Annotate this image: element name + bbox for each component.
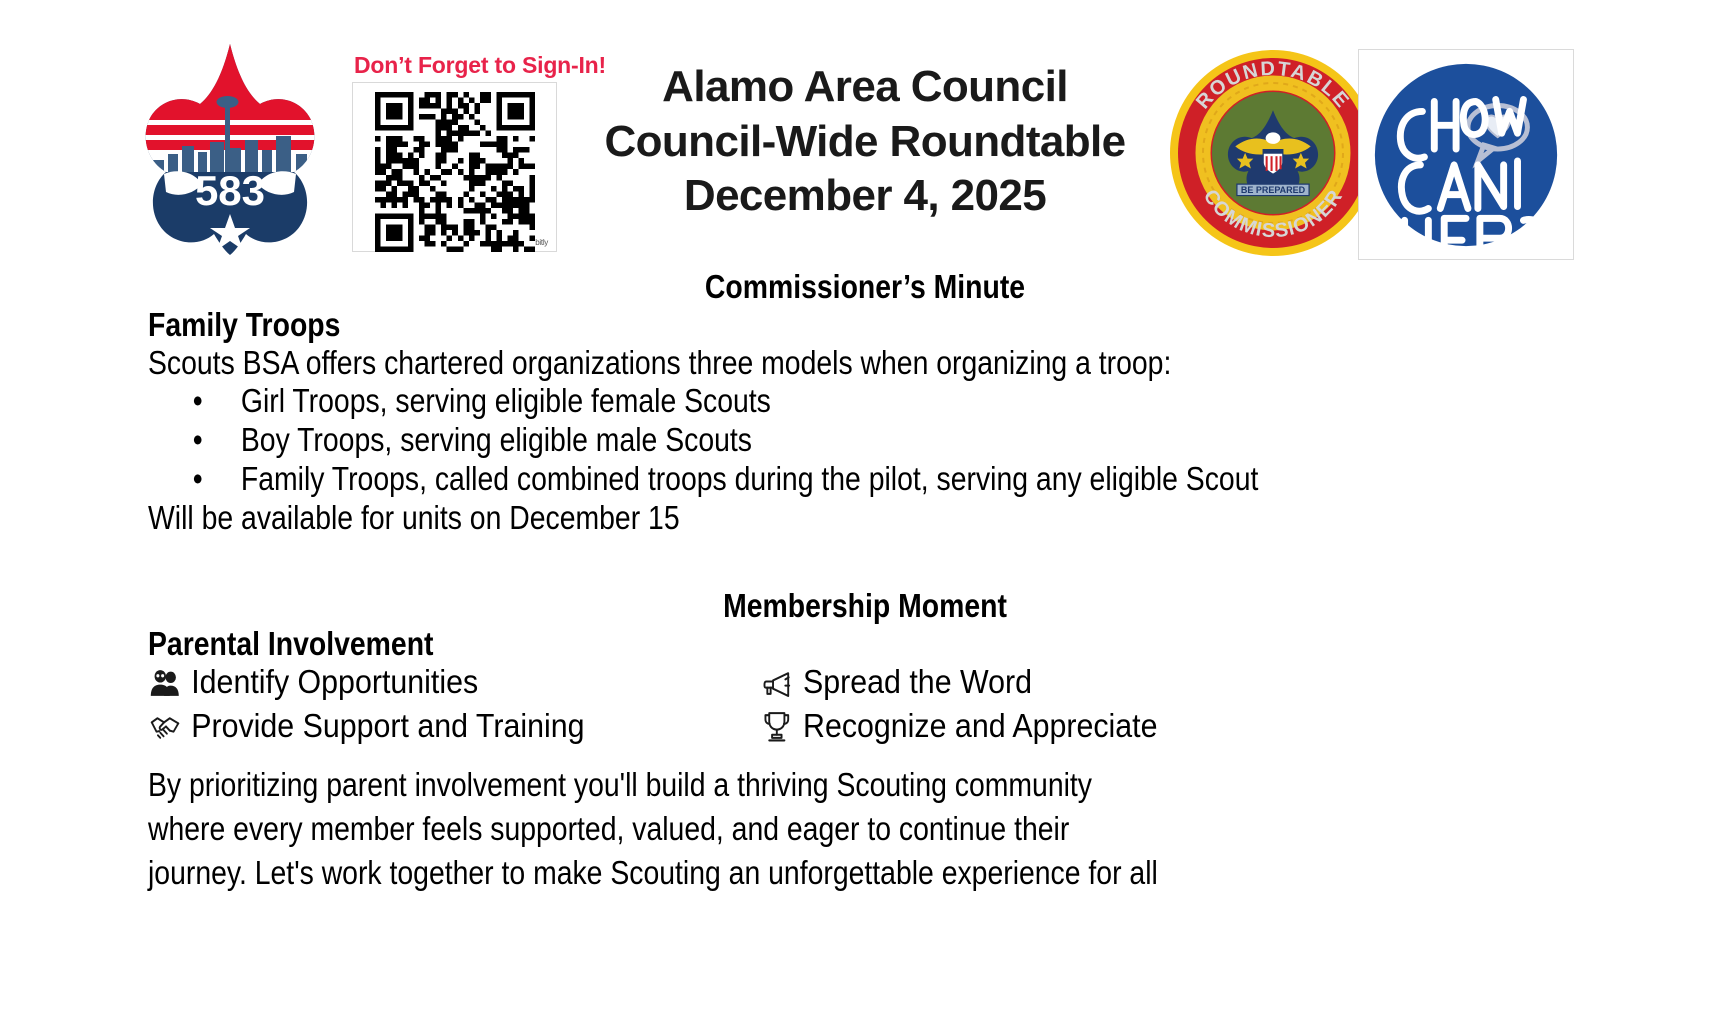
list-item-provide-support-and-training: Provide Support and Training (148, 707, 760, 745)
section-spacer (0, 537, 1730, 587)
title-line-1: Alamo Area Council (570, 60, 1160, 115)
patch-motto-text: BE PREPARED (1241, 185, 1306, 195)
list-item: •Boy Troops, serving eligible male Scout… (148, 421, 1509, 460)
document-body: Commissioner’s Minute Family Troops Scou… (0, 268, 1730, 895)
roundtable-commissioner-patch: BE PREPARED ROUNDTABLE COMMISSIONER (1168, 48, 1378, 258)
list-item-label: Provide Support and Training (191, 707, 584, 745)
unit-number-text: 583 (195, 167, 265, 214)
sign-in-reminder-text: Don’t Forget to Sign-In! (354, 52, 564, 79)
parental-involvement-items: Identify Opportunities Spread the Word (148, 663, 1603, 745)
bullet-icon: • (148, 460, 241, 499)
closing-paragraph-line-3: journey. Let's work together to make Sco… (148, 851, 1509, 895)
megaphone-icon (760, 665, 793, 699)
list-item-label: Spread the Word (803, 663, 1032, 701)
how-can-i-help-logo (1358, 49, 1574, 260)
list-item-label: Recognize and Appreciate (803, 707, 1157, 745)
list-item-label: Girl Troops, serving eligible female Sco… (241, 382, 771, 419)
header: 583 Don’t Forget to Sign-In! bitly Alamo… (0, 0, 1730, 268)
council-fleur-de-lis-emblem: 583 (138, 42, 323, 257)
bullet-icon: • (148, 382, 241, 421)
sign-in-qr-block[interactable]: Don’t Forget to Sign-In! bitly (352, 52, 564, 257)
troop-models-list: •Girl Troops, serving eligible female Sc… (0, 382, 1730, 499)
qr-brand-label: bitly (535, 238, 548, 247)
parental-involvement-subheading: Parental Involvement (148, 625, 1509, 663)
closing-paragraph-line-1: By prioritizing parent involvement you'l… (148, 763, 1509, 807)
paragraph-spacer (0, 745, 1730, 763)
page-title: Alamo Area Council Council-Wide Roundtab… (570, 60, 1160, 224)
title-line-3: December 4, 2025 (570, 169, 1160, 224)
list-item-label: Family Troops, called combined troops du… (241, 460, 1258, 497)
family-troops-subheading: Family Troops (148, 306, 1509, 344)
family-troops-intro-text: Scouts BSA offers chartered organization… (148, 344, 1509, 382)
list-item: •Family Troops, called combined troops d… (148, 460, 1509, 499)
bullet-icon: • (148, 421, 241, 460)
list-item-label: Identify Opportunities (191, 663, 478, 701)
handshake-icon (148, 709, 181, 743)
qr-code-image[interactable] (375, 92, 535, 252)
list-item-recognize-and-appreciate: Recognize and Appreciate (760, 707, 1604, 745)
list-item-identify-opportunities: Identify Opportunities (148, 663, 760, 701)
commissioners-minute-heading: Commissioner’s Minute (121, 268, 1609, 306)
two-people-icon (148, 665, 181, 699)
list-item: •Girl Troops, serving eligible female Sc… (148, 382, 1509, 421)
list-item-spread-the-word: Spread the Word (760, 663, 1604, 701)
roundtable-flyer-page: 583 Don’t Forget to Sign-In! bitly Alamo… (0, 0, 1730, 1032)
title-line-2: Council-Wide Roundtable (570, 115, 1160, 170)
family-troops-closing-text: Will be available for units on December … (148, 499, 1509, 537)
membership-moment-heading: Membership Moment (121, 587, 1609, 625)
list-item-label: Boy Troops, serving eligible male Scouts (241, 421, 752, 458)
trophy-icon (760, 709, 793, 743)
qr-code-frame[interactable]: bitly (352, 82, 557, 252)
closing-paragraph-line-2: where every member feels supported, valu… (148, 807, 1509, 851)
